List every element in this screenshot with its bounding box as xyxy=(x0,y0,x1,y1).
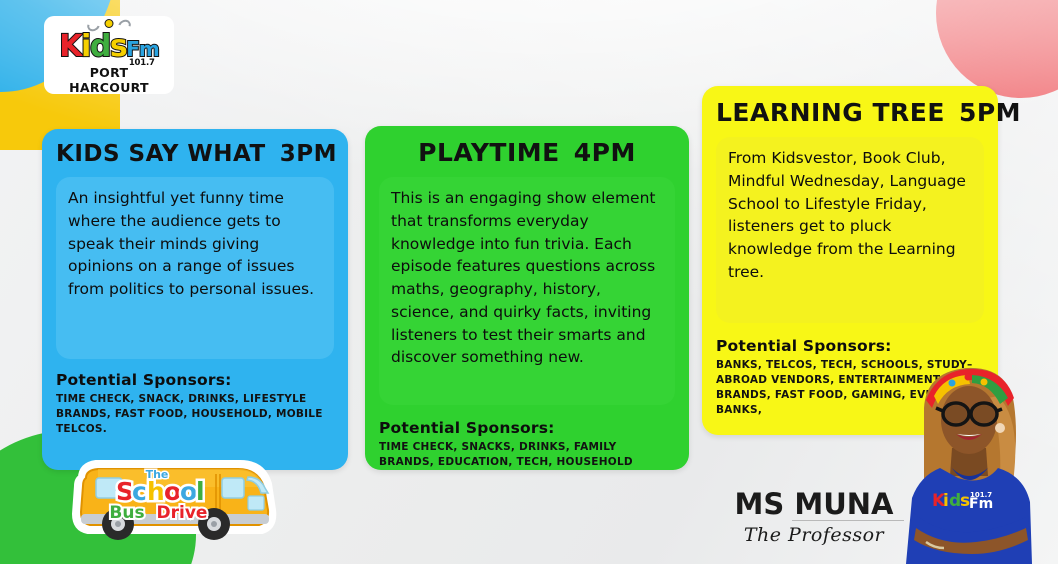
logo-letter-s: s xyxy=(110,29,126,64)
show-name: KIDS SAY WHAT xyxy=(56,141,266,167)
logo-wordmark: KidsFm 101.7 xyxy=(59,32,158,64)
sponsors-heading: Potential Sponsors: xyxy=(56,371,334,389)
presenter-name-block: MS MUNA The Professor xyxy=(724,490,904,546)
presenter-tagline: The Professor xyxy=(724,524,904,546)
kidsfm-logo: KidsFm 101.7 PORT HARCOURT xyxy=(44,16,174,94)
logo-letter-d: d xyxy=(90,29,110,64)
sponsors-block-kids-say-what: Potential Sponsors: TIME CHECK, SNACK, D… xyxy=(56,371,334,437)
logo-frequency: 101.7 xyxy=(129,48,155,78)
show-time: 3PM xyxy=(280,141,337,167)
card-title-playtime: PLAYTIME4PM xyxy=(379,138,675,167)
sponsors-heading: Potential Sponsors: xyxy=(379,419,675,437)
card-title-kids-say-what: KIDS SAY WHAT3PM xyxy=(56,141,334,167)
sponsors-heading: Potential Sponsors: xyxy=(716,337,984,355)
show-description-playtime: This is an engaging show element that tr… xyxy=(379,177,675,405)
svg-text:o: o xyxy=(164,477,181,506)
poster-canvas: KidsFm 101.7 PORT HARCOURT KIDS SAY WHAT… xyxy=(0,0,1058,564)
presenter-photo-ms-muna: K i d s Fm 101.7 xyxy=(880,356,1058,564)
svg-text:Drive: Drive xyxy=(157,503,208,523)
svg-text:101.7: 101.7 xyxy=(970,491,992,499)
show-name: LEARNING TREE xyxy=(716,98,945,127)
logo-letter-i: i xyxy=(81,29,90,64)
sponsors-block-playtime: Potential Sponsors: TIME CHECK, SNACKS, … xyxy=(379,419,675,470)
svg-text:l: l xyxy=(196,477,205,506)
sponsors-list: TIME CHECK, SNACK, DRINKS, LIFESTYLE BRA… xyxy=(56,392,334,437)
sponsors-list: TIME CHECK, SNACKS, DRINKS, FAMILY BRAND… xyxy=(379,440,675,470)
show-card-playtime[interactable]: PLAYTIME4PM This is an engaging show ele… xyxy=(365,126,689,470)
svg-text:h: h xyxy=(147,477,165,506)
card-title-learning-tree: LEARNING TREE5PM xyxy=(716,98,984,127)
logo-letter-k: K xyxy=(59,29,81,64)
presenter-name: MS MUNA xyxy=(724,490,904,519)
show-time: 4PM xyxy=(574,138,636,167)
svg-text:c: c xyxy=(132,477,147,506)
show-name: PLAYTIME xyxy=(418,138,560,167)
school-bus-icon: The S c h o o l Bus Drive xyxy=(72,448,280,560)
decorative-red-circle xyxy=(936,0,1058,98)
show-card-kids-say-what[interactable]: KIDS SAY WHAT3PM An insightful yet funny… xyxy=(42,129,348,470)
svg-text:Bus: Bus xyxy=(109,503,144,523)
show-description-kids-say-what: An insightful yet funny time where the a… xyxy=(56,177,334,359)
svg-text:o: o xyxy=(180,477,197,506)
show-description-learning-tree: From Kidsvestor, Book Club, Mindful Wedn… xyxy=(716,137,984,323)
show-time: 5PM xyxy=(959,98,1021,127)
svg-text:i: i xyxy=(943,491,949,511)
